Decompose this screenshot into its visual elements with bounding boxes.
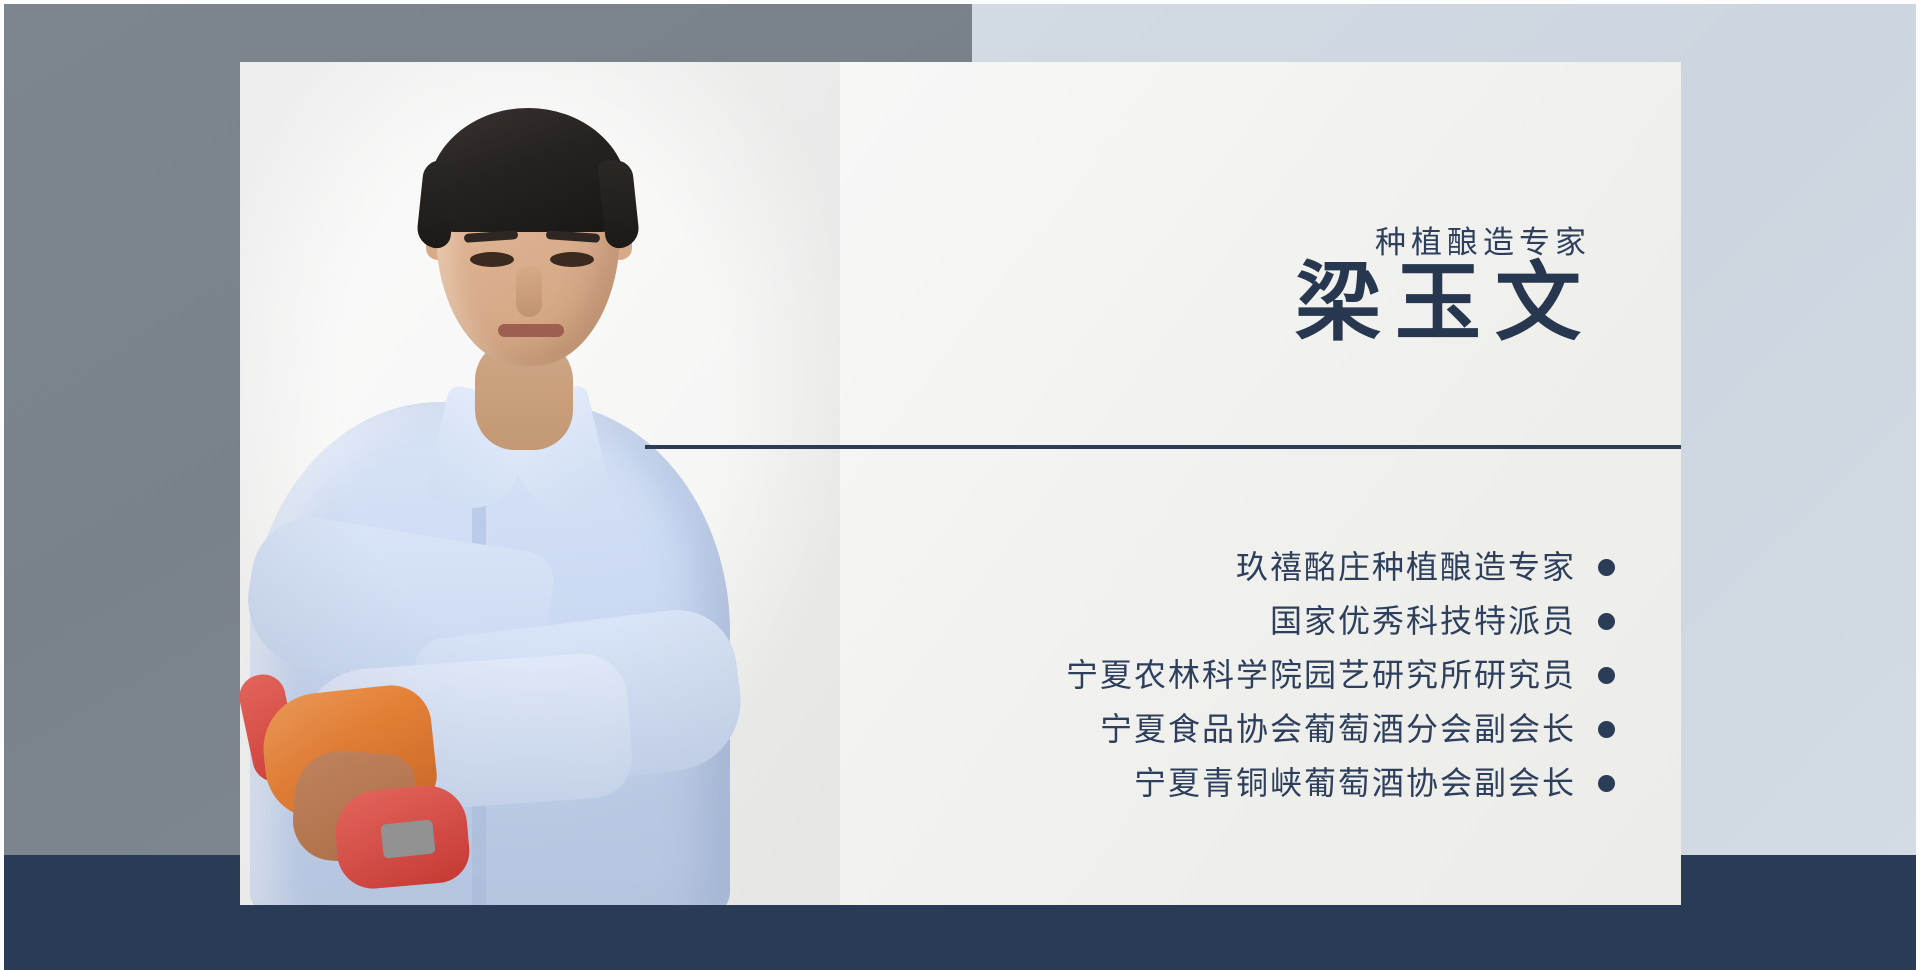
bullet-dot-icon [1598, 613, 1615, 630]
credentials-list: 玖禧酩庄种植酿造专家 国家优秀科技特派员 宁夏农林科学院园艺研究所研究员 宁夏食… [715, 540, 1615, 810]
edge-strip-left [0, 0, 4, 970]
list-item: 宁夏农林科学院园艺研究所研究员 [715, 648, 1615, 702]
credential-text: 宁夏青铜峡葡萄酒协会副会长 [1134, 767, 1576, 799]
bullet-dot-icon [1598, 667, 1615, 684]
credential-text: 玖禧酩庄种植酿造专家 [1236, 551, 1576, 583]
edge-strip-top [0, 0, 1920, 4]
credential-text: 国家优秀科技特派员 [1270, 605, 1576, 637]
bullet-dot-icon [1598, 559, 1615, 576]
list-item: 国家优秀科技特派员 [715, 594, 1615, 648]
bullet-dot-icon [1598, 721, 1615, 738]
edge-strip-right [1916, 0, 1920, 970]
bullet-dot-icon [1598, 775, 1615, 792]
divider-line [645, 445, 1681, 449]
list-item: 宁夏食品协会葡萄酒分会副会长 [715, 702, 1615, 756]
credential-text: 宁夏食品协会葡萄酒分会副会长 [1100, 713, 1576, 745]
expert-name: 梁玉文 [1295, 258, 1595, 348]
credential-text: 宁夏农林科学院园艺研究所研究员 [1066, 659, 1576, 691]
list-item: 玖禧酩庄种植酿造专家 [715, 540, 1615, 594]
background-navy-right-block [1681, 868, 1920, 970]
list-item: 宁夏青铜峡葡萄酒协会副会长 [715, 756, 1615, 810]
profile-card: 种植酿造专家 梁玉文 玖禧酩庄种植酿造专家 国家优秀科技特派员 宁夏农林科学院园… [240, 62, 1681, 905]
